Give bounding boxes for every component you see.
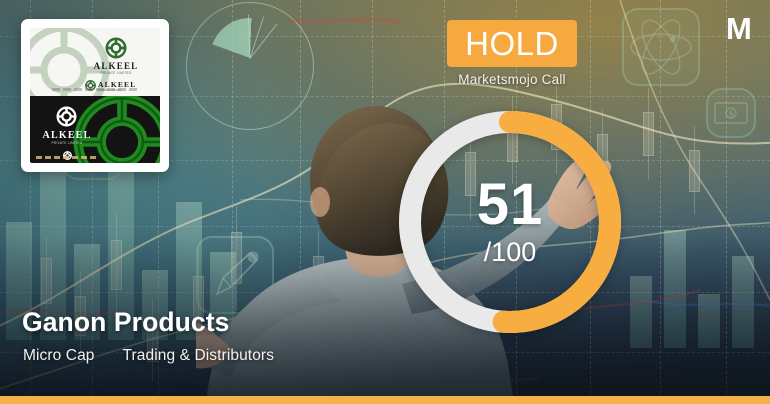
stock-summary-card: $	[0, 0, 770, 404]
call-badge-label: HOLD	[465, 27, 559, 60]
company-name: Ganon Products	[22, 307, 230, 338]
score-gauge: 51 /100	[398, 110, 622, 334]
logo-dot-red	[726, 45, 735, 54]
logo-image: ALKEEL PRIVATE LIMITED ALKEEL PRIVATE LI…	[30, 28, 160, 163]
brand-name-dark: ALKEEL	[40, 130, 94, 141]
logo-letter-m: M	[726, 17, 760, 42]
logo-top-panel: ALKEEL PRIVATE LIMITED ALKEEL PRIVATE LI…	[30, 28, 160, 96]
tag-sector: Trading & Distributors	[123, 347, 275, 365]
logo-dots	[726, 45, 760, 54]
brand-tagline-dark: PRIVATE LIMITED	[40, 141, 94, 145]
celtic-knot-icon-white	[56, 106, 77, 127]
call-badge: HOLD	[447, 20, 577, 67]
call-caption: Marketsmojo Call	[447, 72, 577, 87]
company-logo-card: ALKEEL PRIVATE LIMITED ALKEEL PRIVATE LI…	[21, 19, 169, 172]
company-tags: Micro Cap Trading & Distributors	[23, 347, 274, 365]
logo-bottom-panel: ALKEEL PRIVATE LIMITED	[30, 96, 160, 164]
logo-dot-green	[751, 45, 760, 54]
logo-caption-lines-dark	[36, 156, 98, 159]
marketsmojo-logo: M	[726, 17, 760, 57]
celtic-knot-icon-small	[105, 37, 127, 59]
brand-name-top: ALKEEL	[90, 61, 142, 71]
tag-market-cap: Micro Cap	[23, 347, 95, 365]
logo-caption-lines	[52, 88, 138, 91]
bottom-accent-bar	[0, 396, 770, 404]
logo-dot-orange	[739, 45, 748, 54]
brand-tagline-top: PRIVATE LIMITED	[90, 71, 142, 75]
